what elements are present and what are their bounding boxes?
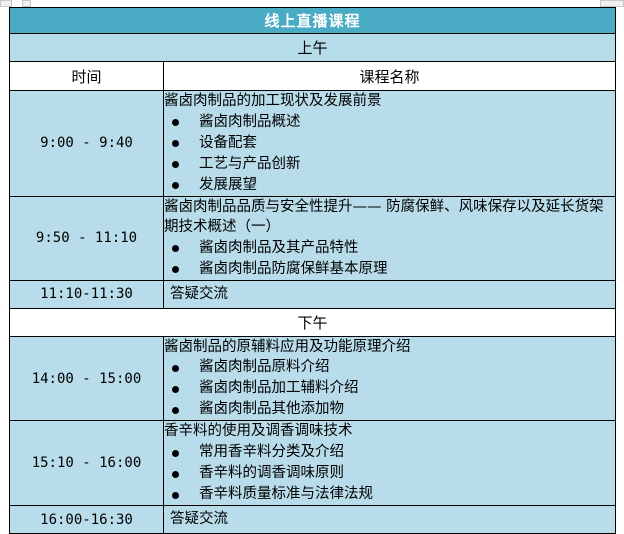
bullet-text: 酱卤肉制品及其产品特性 bbox=[199, 240, 359, 256]
session-label-morning: 上午 bbox=[10, 34, 616, 62]
table-row: 11:10-11:30 答疑交流 bbox=[10, 280, 616, 308]
course-title: 酱卤肉制品的加工现状及发展前景 bbox=[164, 91, 615, 112]
bullet-icon bbox=[172, 182, 179, 189]
bullet-icon bbox=[172, 140, 179, 147]
course-title: 酱卤肉制品品质与安全性提升—— 防腐保鲜、风味保存以及延长货架期技术概述（一） bbox=[164, 197, 615, 238]
bullet-text: 香辛料的调香调味原则 bbox=[199, 465, 344, 481]
bullet-icon bbox=[172, 365, 179, 372]
bullet-text: 发展展望 bbox=[199, 177, 257, 193]
schedule-banner-row: 线上直播课程 bbox=[10, 8, 616, 34]
bullet-text: 酱卤肉制品原料介绍 bbox=[199, 359, 330, 375]
bullet-icon bbox=[172, 471, 179, 478]
row-course: 酱卤制品的原辅料应用及功能原理介绍 酱卤肉制品原料介绍 酱卤肉制品加工辅料介绍 … bbox=[164, 336, 616, 421]
row-time: 9:50 - 11:10 bbox=[10, 196, 164, 280]
bullet-text: 常用香辛料分类及介绍 bbox=[199, 444, 344, 460]
list-item: 酱卤肉制品其他添加物 bbox=[164, 399, 615, 420]
list-item: 香辛料的调香调味原则 bbox=[164, 463, 615, 484]
course-schedule-table: 线上直播课程 上午 时间 课程名称 9:00 - 9:40 酱卤肉制品的加工现状… bbox=[9, 7, 616, 534]
document-handle-right bbox=[600, 0, 624, 7]
bullet-icon bbox=[172, 266, 179, 273]
list-item: 酱卤肉制品防腐保鲜基本原理 bbox=[164, 259, 615, 280]
list-item: 酱卤肉制品加工辅料介绍 bbox=[164, 378, 615, 399]
course-title: 答疑交流 bbox=[170, 284, 609, 305]
list-item: 酱卤肉制品概述 bbox=[164, 112, 615, 133]
column-header-course-name: 课程名称 bbox=[164, 62, 616, 91]
bullet-text: 酱卤肉制品加工辅料介绍 bbox=[199, 380, 359, 396]
list-item: 酱卤肉制品及其产品特性 bbox=[164, 238, 615, 259]
row-time: 16:00-16:30 bbox=[10, 506, 164, 534]
course-bullet-list: 酱卤肉制品概述 设备配套 工艺与产品创新 发展展望 bbox=[164, 112, 615, 196]
course-bullet-list: 常用香辛料分类及介绍 香辛料的调香调味原则 香辛料质量标准与法律法规 bbox=[164, 442, 615, 505]
table-row: 9:50 - 11:10 酱卤肉制品品质与安全性提升—— 防腐保鲜、风味保存以及… bbox=[10, 196, 616, 280]
table-row: 14:00 - 15:00 酱卤制品的原辅料应用及功能原理介绍 酱卤肉制品原料介… bbox=[10, 336, 616, 421]
bullet-text: 酱卤肉制品概述 bbox=[199, 114, 301, 130]
list-item: 工艺与产品创新 bbox=[164, 154, 615, 175]
list-item: 酱卤肉制品原料介绍 bbox=[164, 357, 615, 378]
session-label-afternoon: 下午 bbox=[10, 308, 616, 336]
document-handle-left bbox=[0, 0, 12, 7]
course-title: 答疑交流 bbox=[170, 509, 609, 530]
table-row: 15:10 - 16:00 香辛料的使用及调香调味技术 常用香辛料分类及介绍 香… bbox=[10, 421, 616, 506]
column-header-row: 时间 课程名称 bbox=[10, 62, 616, 91]
bullet-icon bbox=[172, 245, 179, 252]
bullet-icon bbox=[172, 386, 179, 393]
list-item: 香辛料质量标准与法律法规 bbox=[164, 484, 615, 505]
row-time: 9:00 - 9:40 bbox=[10, 91, 164, 197]
row-course: 酱卤肉制品品质与安全性提升—— 防腐保鲜、风味保存以及延长货架期技术概述（一） … bbox=[164, 196, 616, 280]
row-course: 答疑交流 bbox=[164, 280, 616, 308]
bullet-icon bbox=[172, 161, 179, 168]
course-title: 香辛料的使用及调香调味技术 bbox=[164, 421, 615, 442]
list-item: 发展展望 bbox=[164, 175, 615, 196]
column-header-time: 时间 bbox=[10, 62, 164, 91]
bullet-text: 酱卤肉制品防腐保鲜基本原理 bbox=[199, 261, 388, 277]
table-row: 9:00 - 9:40 酱卤肉制品的加工现状及发展前景 酱卤肉制品概述 设备配套… bbox=[10, 91, 616, 197]
list-item: 设备配套 bbox=[164, 133, 615, 154]
document-handle-middle bbox=[22, 0, 31, 7]
bullet-text: 酱卤肉制品其他添加物 bbox=[199, 401, 344, 417]
bullet-text: 设备配套 bbox=[199, 135, 257, 151]
row-time: 15:10 - 16:00 bbox=[10, 421, 164, 506]
list-item: 常用香辛料分类及介绍 bbox=[164, 442, 615, 463]
row-course: 香辛料的使用及调香调味技术 常用香辛料分类及介绍 香辛料的调香调味原则 香辛料质… bbox=[164, 421, 616, 506]
bullet-icon bbox=[172, 119, 179, 126]
row-course: 答疑交流 bbox=[164, 506, 616, 534]
row-course: 酱卤肉制品的加工现状及发展前景 酱卤肉制品概述 设备配套 工艺与产品创新 发展展… bbox=[164, 91, 616, 197]
schedule-banner-title: 线上直播课程 bbox=[10, 8, 616, 34]
table-row: 16:00-16:30 答疑交流 bbox=[10, 506, 616, 534]
row-time: 14:00 - 15:00 bbox=[10, 336, 164, 421]
course-bullet-list: 酱卤肉制品原料介绍 酱卤肉制品加工辅料介绍 酱卤肉制品其他添加物 bbox=[164, 357, 615, 420]
row-time: 11:10-11:30 bbox=[10, 280, 164, 308]
bullet-text: 工艺与产品创新 bbox=[199, 156, 301, 172]
schedule-body: 线上直播课程 上午 时间 课程名称 9:00 - 9:40 酱卤肉制品的加工现状… bbox=[10, 8, 616, 534]
course-title: 酱卤制品的原辅料应用及功能原理介绍 bbox=[164, 337, 615, 358]
bullet-icon bbox=[172, 492, 179, 499]
bullet-icon bbox=[172, 450, 179, 457]
session-row-afternoon: 下午 bbox=[10, 308, 616, 336]
course-bullet-list: 酱卤肉制品及其产品特性 酱卤肉制品防腐保鲜基本原理 bbox=[164, 238, 615, 280]
session-row-morning: 上午 bbox=[10, 34, 616, 62]
document-page: 线上直播课程 上午 时间 课程名称 9:00 - 9:40 酱卤肉制品的加工现状… bbox=[0, 0, 624, 528]
bullet-icon bbox=[172, 407, 179, 414]
bullet-text: 香辛料质量标准与法律法规 bbox=[199, 486, 373, 502]
